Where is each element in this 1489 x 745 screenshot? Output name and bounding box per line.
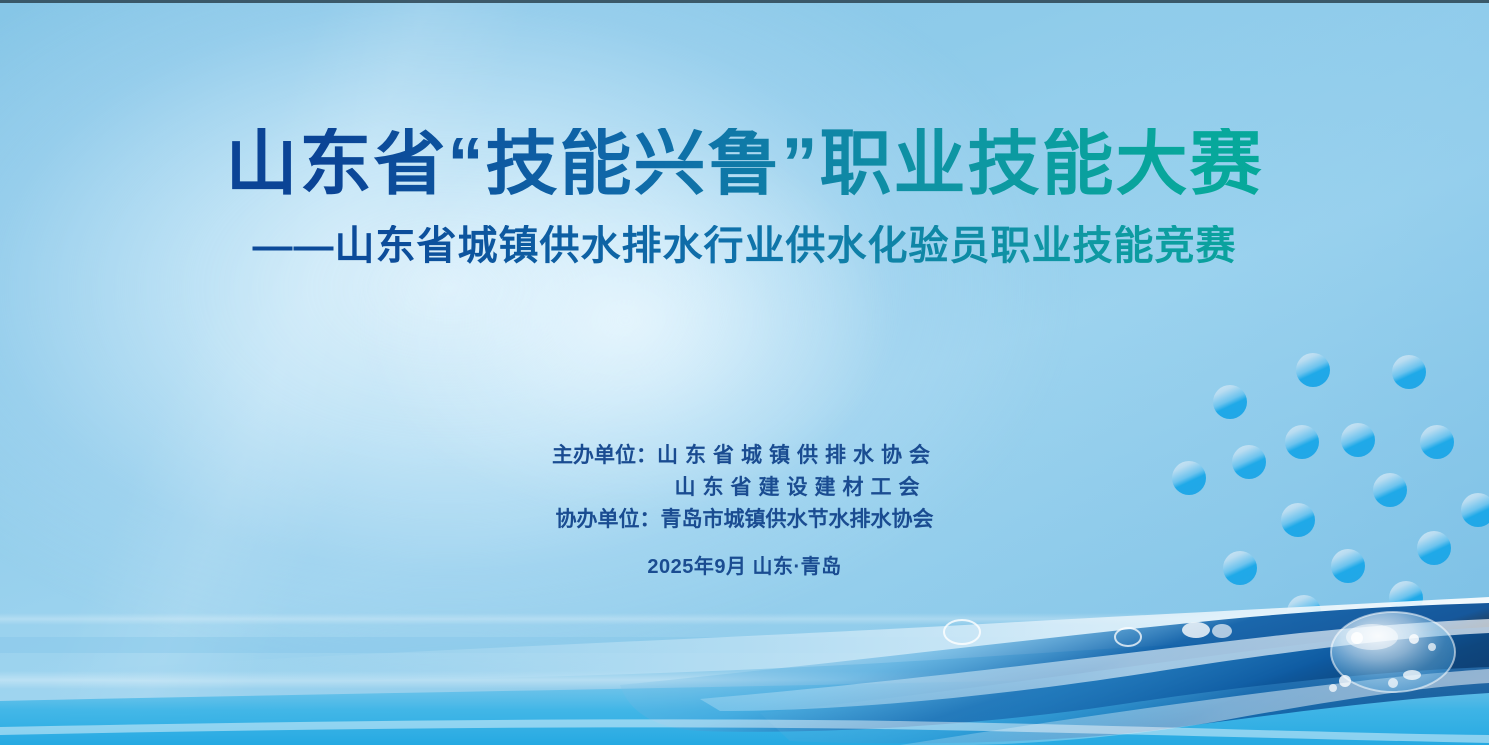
co-host-line: 协办单位：青岛市城镇供水节水排水协会 — [0, 504, 1489, 536]
host-label: 主办单位： — [552, 444, 657, 467]
host-line-2: 山东省建设建材工会 — [0, 472, 1489, 504]
page-title: 山东省“技能兴鲁”职业技能大赛 — [0, 128, 1489, 201]
water-droplet — [1329, 612, 1455, 692]
poster-canvas: 山东省“技能兴鲁”职业技能大赛 ——山东省城镇供水排水行业供水化验员职业技能竞赛… — [0, 0, 1489, 745]
water-dot — [1392, 355, 1426, 389]
host-line-1: 主办单位：山东省城镇供排水协会 — [0, 440, 1489, 472]
water-wave-graphic — [0, 575, 1489, 745]
title-block: 山东省“技能兴鲁”职业技能大赛 ——山东省城镇供水排水行业供水化验员职业技能竞赛 — [0, 128, 1489, 267]
credits-block: 主办单位：山东省城镇供排水协会 山东省建设建材工会 协办单位：青岛市城镇供水节水… — [0, 440, 1489, 579]
co-host-org: 青岛市城镇供水节水排水协会 — [661, 508, 934, 531]
date-location: 2025年9月 山东·青岛 — [0, 550, 1489, 579]
water-dot — [1296, 353, 1330, 387]
co-host-label: 协办单位： — [556, 508, 661, 531]
page-subtitle: ——山东省城镇供水排水行业供水化验员职业技能竞赛 — [0, 225, 1489, 267]
host-org-1: 山东省城镇供排水协会 — [657, 444, 937, 467]
water-dot — [1213, 385, 1247, 419]
host-org-2: 山东省建设建材工会 — [675, 476, 927, 499]
